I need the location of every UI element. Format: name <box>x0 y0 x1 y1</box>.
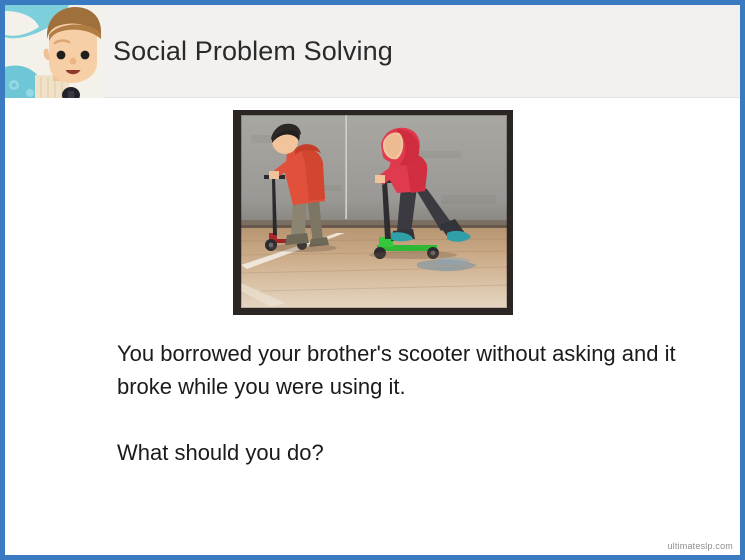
page-title: Social Problem Solving <box>113 5 393 98</box>
slide-body: You borrowed your brother's scooter with… <box>117 337 677 469</box>
watermark: ultimateslp.com <box>667 541 733 551</box>
scooter-photo <box>241 115 507 308</box>
slide-header: Social Problem Solving <box>5 5 740 98</box>
body-paragraph-2: What should you do? <box>117 436 677 469</box>
body-paragraph-1: You borrowed your brother's scooter with… <box>117 337 677 403</box>
image-frame <box>233 110 513 315</box>
avatar <box>5 5 103 98</box>
scooter-photo-graphic <box>241 115 507 308</box>
avatar-illustration <box>5 5 103 98</box>
slide: Social Problem Solving <box>0 0 745 560</box>
